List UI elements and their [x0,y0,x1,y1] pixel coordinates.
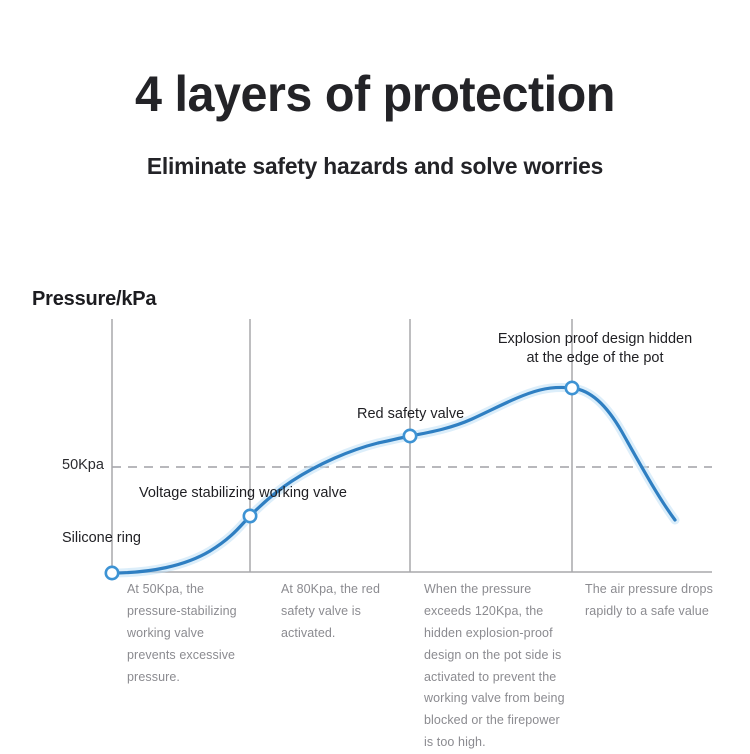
caption-stage-4: The air pressure drops rapidly to a safe… [585,579,745,623]
infographic-stage: 4 layers of protection Eliminate safety … [0,0,750,750]
marker-red-safety-valve[interactable] [404,430,416,442]
callout-silicone-ring: Silicone ring [62,529,141,549]
callout-explosion-line-2: at the edge of the pot [526,350,663,366]
callout-explosion-line-1: Explosion proof design hidden [498,331,692,347]
caption-stage-3: When the pressure exceeds 120Kpa, the hi… [424,579,572,754]
marker-explosion-proof-design[interactable] [566,382,578,394]
callout-voltage-stabilizing-valve: Voltage stabilizing working valve [139,484,347,504]
stage-captions: At 50Kpa, the pressure-stabilizing worki… [0,579,750,739]
caption-stage-1: At 50Kpa, the pressure-stabilizing worki… [127,579,252,688]
callout-red-safety-valve: Red safety valve [357,405,464,425]
marker-silicone-ring[interactable] [106,567,118,579]
callout-explosion-proof-design: Explosion proof design hidden at the edg… [484,330,706,369]
marker-voltage-stabilizing-valve[interactable] [244,510,256,522]
caption-stage-2: At 80Kpa, the red safety valve is activa… [281,579,401,645]
